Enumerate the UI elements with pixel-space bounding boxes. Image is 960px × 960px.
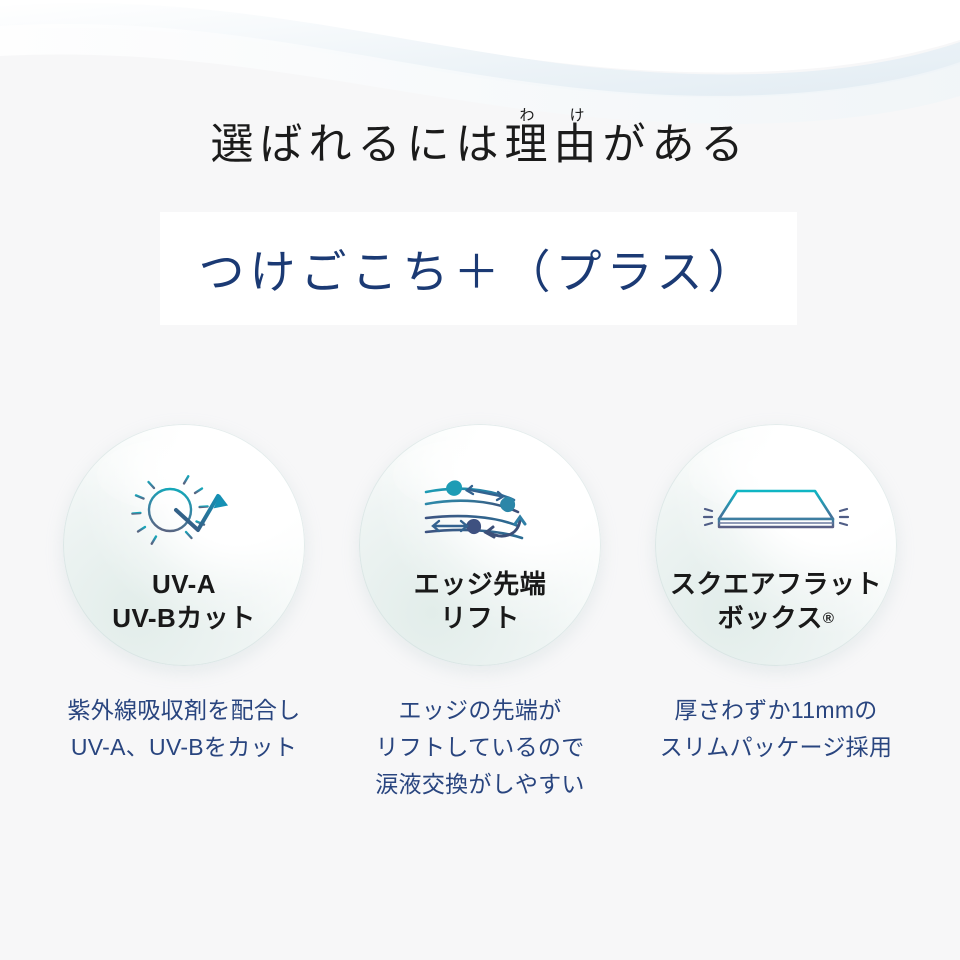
headline-ruby-base: 理由 (505, 122, 603, 169)
headline-after-ruby: がある (603, 122, 750, 169)
subtitle-text: つけごこち＋（プラス） (198, 236, 758, 302)
feature-caption-line2: UV-A、UV-Bをカット (71, 734, 297, 760)
feature-caption: エッジの先端が リフトしているので 涙液交換がしやすい (375, 692, 584, 802)
feature-label: エッジ先端 リフト (414, 568, 547, 636)
feature-label-line2: UV-Bカット (112, 603, 256, 633)
feature-edge-lift: エッジ先端 リフト エッジの先端が リフトしているので 涙液交換がしやすい (356, 424, 604, 802)
feature-caption-line2: スリムパッケージ採用 (660, 734, 893, 760)
registered-trademark-symbol: ® (823, 610, 835, 627)
feature-caption: 厚さわずか11mmの スリムパッケージ採用 (660, 692, 893, 766)
feature-uv-cut: UV-A UV-Bカット 紫外線吸収剤を配合し UV-A、UV-Bをカット (60, 424, 308, 802)
feature-caption-line1: 厚さわずか11mmの (674, 697, 877, 723)
headline-ruby-text: わけ (505, 108, 603, 124)
feature-bubble: UV-A UV-Bカット (63, 424, 305, 666)
feature-label: UV-A UV-Bカット (112, 568, 256, 636)
feature-caption-line1: 紫外線吸収剤を配合し (68, 697, 301, 723)
feature-label-line1: UV-A (152, 569, 216, 599)
feature-square-flat-box: スクエアフラット ボックス® 厚さわずか11mmの スリムパッケージ採用 (652, 424, 900, 802)
page-headline: 選ばれるには理由わけがある (0, 108, 960, 175)
headline-before-ruby: 選ばれるには (211, 122, 505, 169)
feature-bubble: エッジ先端 リフト (359, 424, 601, 666)
feature-caption-line2: リフトしているので (375, 734, 584, 760)
subtitle-band: つけごこち＋（プラス） (160, 212, 797, 325)
feature-list: UV-A UV-Bカット 紫外線吸収剤を配合し UV-A、UV-Bをカット (0, 424, 960, 802)
feature-label-line1: エッジ先端 (414, 569, 547, 599)
sun-uv-block-icon (130, 468, 238, 552)
headline-ruby-group: 理由わけ (505, 122, 603, 169)
feature-caption-line1: エッジの先端が (398, 697, 561, 723)
feature-bubble: スクエアフラット ボックス® (655, 424, 897, 666)
feature-label-line2: ボックス (718, 603, 823, 633)
feature-label-line2: リフト (440, 603, 520, 633)
square-flat-box-icon (701, 468, 851, 552)
feature-label-line1: スクエアフラット (670, 569, 882, 599)
feature-caption-line3: 涙液交換がしやすい (375, 771, 584, 797)
edge-lift-icon (422, 468, 538, 552)
feature-label: スクエアフラット ボックス® (670, 568, 882, 636)
feature-caption: 紫外線吸収剤を配合し UV-A、UV-Bをカット (68, 692, 301, 766)
